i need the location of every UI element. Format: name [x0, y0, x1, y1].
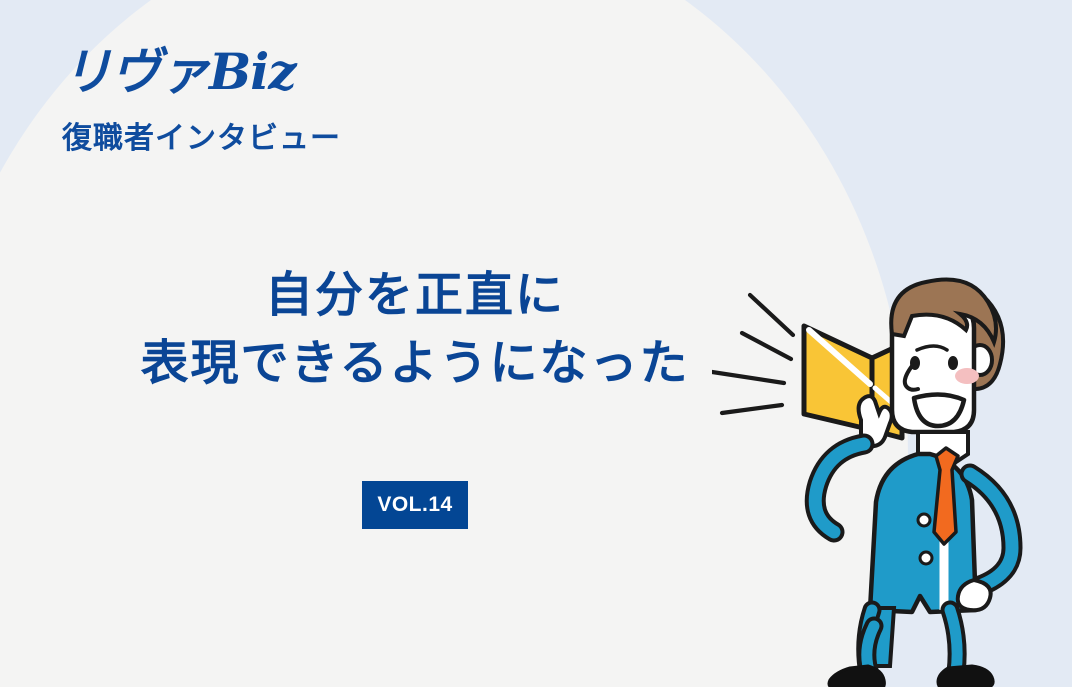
businessman-megaphone-svg	[712, 248, 1072, 687]
brand-block: リヴァBiz 復職者インタビュー	[62, 46, 341, 157]
headline-line-1: 自分を正直に	[0, 262, 830, 330]
brand-logo: リヴァBiz	[62, 46, 341, 97]
volume-badge: VOL.14	[362, 481, 468, 529]
left-shoe	[829, 666, 884, 687]
hip-hand	[958, 580, 991, 610]
right-shoe	[938, 666, 993, 687]
page-title: 自分を正直に 表現できるようになった	[0, 262, 830, 398]
right-eye	[948, 356, 958, 370]
necktie	[934, 448, 958, 544]
interview-banner: リヴァBiz 復職者インタビュー 自分を正直に 表現できるようになった VOL.…	[0, 0, 1072, 687]
headline-line-2: 表現できるようになった	[0, 330, 830, 398]
businessman-with-megaphone-illustration	[712, 248, 1072, 687]
speed-lines-icon	[712, 295, 793, 413]
jacket-button-top	[918, 514, 930, 526]
brand-subtitle: 復職者インタビュー	[62, 113, 341, 157]
cheek-blush	[955, 368, 979, 384]
jacket-button-bottom	[920, 552, 932, 564]
